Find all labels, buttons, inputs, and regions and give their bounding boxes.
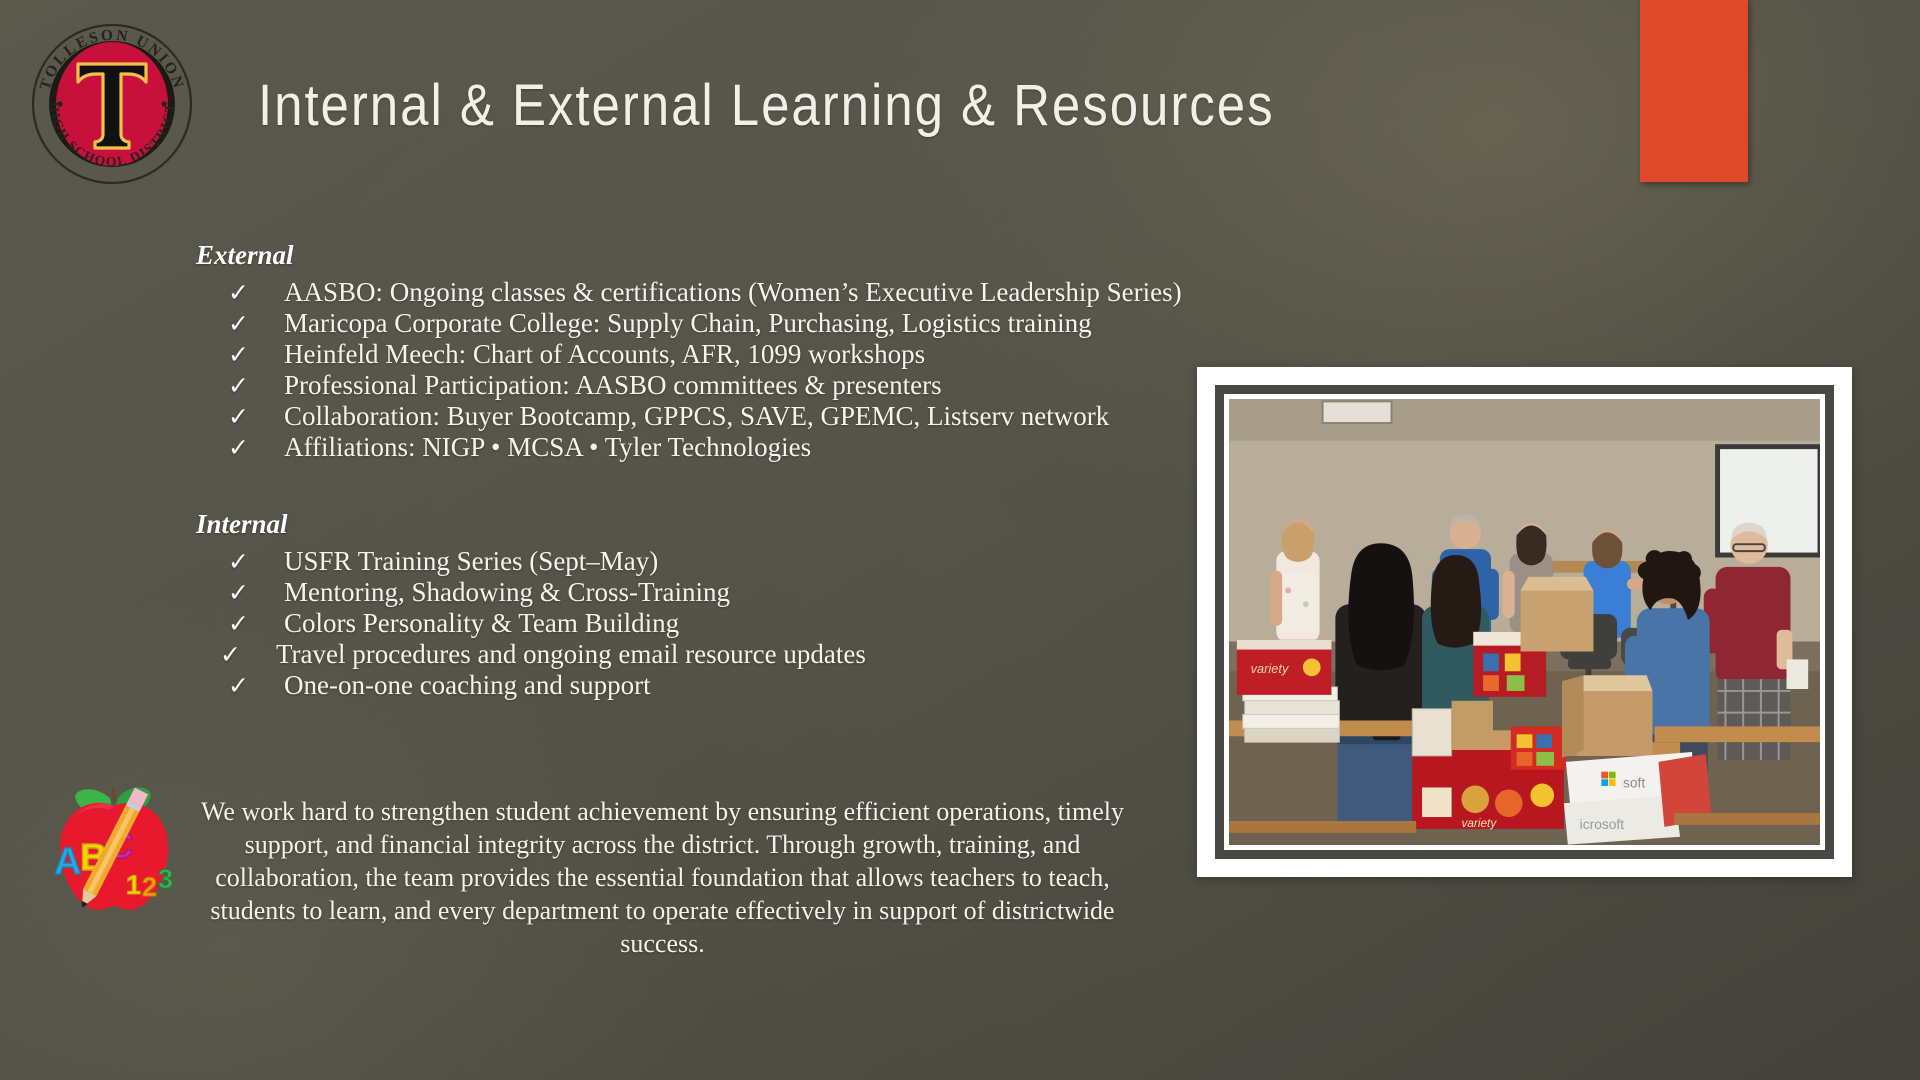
svg-text:2: 2 xyxy=(142,872,157,902)
list-item: ✓ Affiliations: NIGP • MCSA • Tyler Tech… xyxy=(0,432,1180,463)
list-item: ✓ USFR Training Series (Sept–May) xyxy=(0,546,1180,577)
list-item: ✓ Colors Personality & Team Building xyxy=(0,608,1180,639)
list-item-label: Mentoring, Shadowing & Cross-Training xyxy=(284,577,730,608)
check-icon: ✓ xyxy=(228,546,284,577)
photo-frame-inner-border: variety xyxy=(1215,385,1834,859)
learning-resources-content: External ✓ AASBO: Ongoing classes & cert… xyxy=(0,240,1180,701)
check-icon: ✓ xyxy=(228,339,284,370)
check-icon: ✓ xyxy=(228,401,284,432)
svg-text:soft: soft xyxy=(1623,775,1645,790)
accent-bar-top-right xyxy=(1640,0,1748,182)
list-item-label: Affiliations: NIGP • MCSA • Tyler Techno… xyxy=(284,432,811,463)
staff-packing-photo: variety xyxy=(1229,399,1820,845)
list-item: ✓ Maricopa Corporate College: Supply Cha… xyxy=(0,308,1180,339)
photo-frame: variety xyxy=(1197,367,1852,877)
list-item-label: Collaboration: Buyer Bootcamp, GPPCS, SA… xyxy=(284,401,1109,432)
list-item: ✓ One-on-one coaching and support xyxy=(0,670,1180,701)
list-item: ✓ Heinfeld Meech: Chart of Accounts, AFR… xyxy=(0,339,1180,370)
svg-text:1: 1 xyxy=(126,870,141,900)
list-item-label: USFR Training Series (Sept–May) xyxy=(284,546,658,577)
abc-123-apple-icon: A B C 1 2 3 xyxy=(40,770,185,920)
section-heading-internal: Internal xyxy=(196,509,1180,540)
list-item-label: Heinfeld Meech: Chart of Accounts, AFR, … xyxy=(284,339,925,370)
mission-statement: We work hard to strengthen student achie… xyxy=(200,795,1125,960)
check-icon: ✓ xyxy=(228,370,284,401)
section-heading-external: External xyxy=(196,240,1180,271)
svg-text:3: 3 xyxy=(158,864,173,894)
list-item-label: Professional Participation: AASBO commit… xyxy=(284,370,942,401)
svg-text:variety: variety xyxy=(1251,661,1290,676)
svg-text:icrosoft: icrosoft xyxy=(1580,817,1625,832)
external-list: ✓ AASBO: Ongoing classes & certification… xyxy=(0,277,1180,463)
list-item-label: Travel procedures and ongoing email reso… xyxy=(276,639,866,670)
list-item: ✓ Collaboration: Buyer Bootcamp, GPPCS, … xyxy=(0,401,1180,432)
list-item: ✓ Travel procedures and ongoing email re… xyxy=(0,639,1180,670)
check-icon: ✓ xyxy=(220,639,276,670)
check-icon: ✓ xyxy=(228,277,284,308)
district-logo: TOLLESON UNION HIGH SCHOOL DISTRICT xyxy=(28,20,196,188)
check-icon: ✓ xyxy=(228,608,284,639)
check-icon: ✓ xyxy=(228,432,284,463)
list-item-label: AASBO: Ongoing classes & certifications … xyxy=(284,277,1182,308)
list-item: ✓ Mentoring, Shadowing & Cross-Training xyxy=(0,577,1180,608)
svg-text:variety: variety xyxy=(1461,816,1497,830)
svg-text:A: A xyxy=(54,841,81,883)
list-item-label: One-on-one coaching and support xyxy=(284,670,651,701)
check-icon: ✓ xyxy=(228,577,284,608)
internal-list: ✓ USFR Training Series (Sept–May) ✓ Ment… xyxy=(0,546,1180,701)
page-title: Internal & External Learning & Resources xyxy=(258,72,1275,139)
list-item: ✓ AASBO: Ongoing classes & certification… xyxy=(0,277,1180,308)
list-item: ✓ Professional Participation: AASBO comm… xyxy=(0,370,1180,401)
list-item-label: Maricopa Corporate College: Supply Chain… xyxy=(284,308,1092,339)
check-icon: ✓ xyxy=(228,308,284,339)
check-icon: ✓ xyxy=(228,670,284,701)
presentation-slide: TOLLESON UNION HIGH SCHOOL DISTRICT Inte… xyxy=(0,0,1920,1080)
list-item-label: Colors Personality & Team Building xyxy=(284,608,679,639)
